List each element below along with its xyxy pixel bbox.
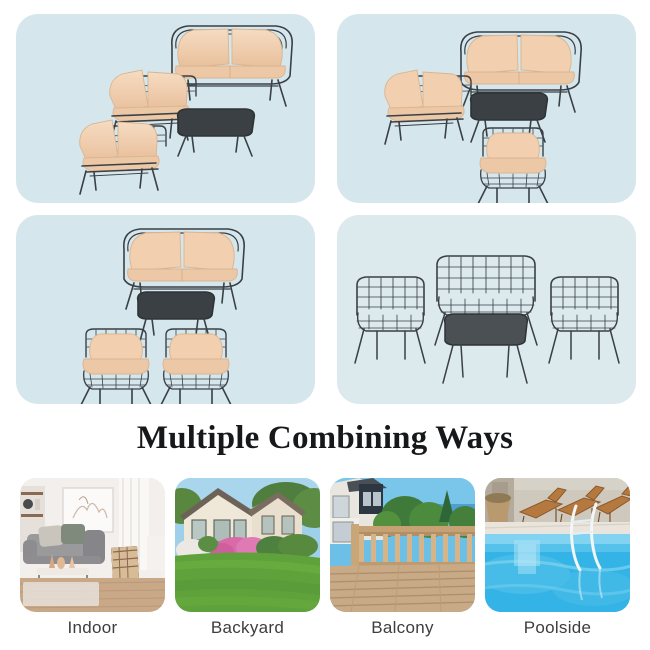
scenario-label-balcony: Balcony <box>371 618 434 638</box>
arrangement-panel-grid <box>16 14 636 404</box>
scenario-label-poolside: Poolside <box>524 618 592 638</box>
scenario-thumbnail-poolside[interactable] <box>485 478 630 612</box>
scenario-label-indoor: Indoor <box>67 618 117 638</box>
arrangement-panel-3 <box>16 215 315 404</box>
page-title: Multiple Combining Ways <box>0 414 650 462</box>
arrangement-illustration-4 <box>337 215 636 404</box>
poolside-swimming-pool-photo <box>485 478 630 612</box>
indoor-living-room-photo <box>20 478 165 612</box>
arrangement-panel-4 <box>337 215 636 404</box>
arrangement-panel-2 <box>337 14 636 203</box>
arrangement-panel-1 <box>16 14 315 203</box>
scenario-backyard[interactable]: Backyard <box>175 478 320 643</box>
scenario-thumbnail-balcony[interactable] <box>330 478 475 612</box>
arrangement-illustration-3 <box>16 215 315 404</box>
scenario-balcony[interactable]: Balcony <box>330 478 475 643</box>
scenario-poolside[interactable]: Poolside <box>485 478 630 643</box>
backyard-house-garden-photo <box>175 478 320 612</box>
scenario-thumbnail-backyard[interactable] <box>175 478 320 612</box>
balcony-deck-photo <box>330 478 475 612</box>
scenario-thumbnail-indoor[interactable] <box>20 478 165 612</box>
usage-scenario-row: Indoor <box>20 478 630 643</box>
arrangement-illustration-2 <box>337 14 636 203</box>
arrangement-illustration-1 <box>16 14 315 203</box>
scenario-indoor[interactable]: Indoor <box>20 478 165 643</box>
product-feature-image: Multiple Combining Ways <box>0 0 650 650</box>
scenario-label-backyard: Backyard <box>211 618 284 638</box>
